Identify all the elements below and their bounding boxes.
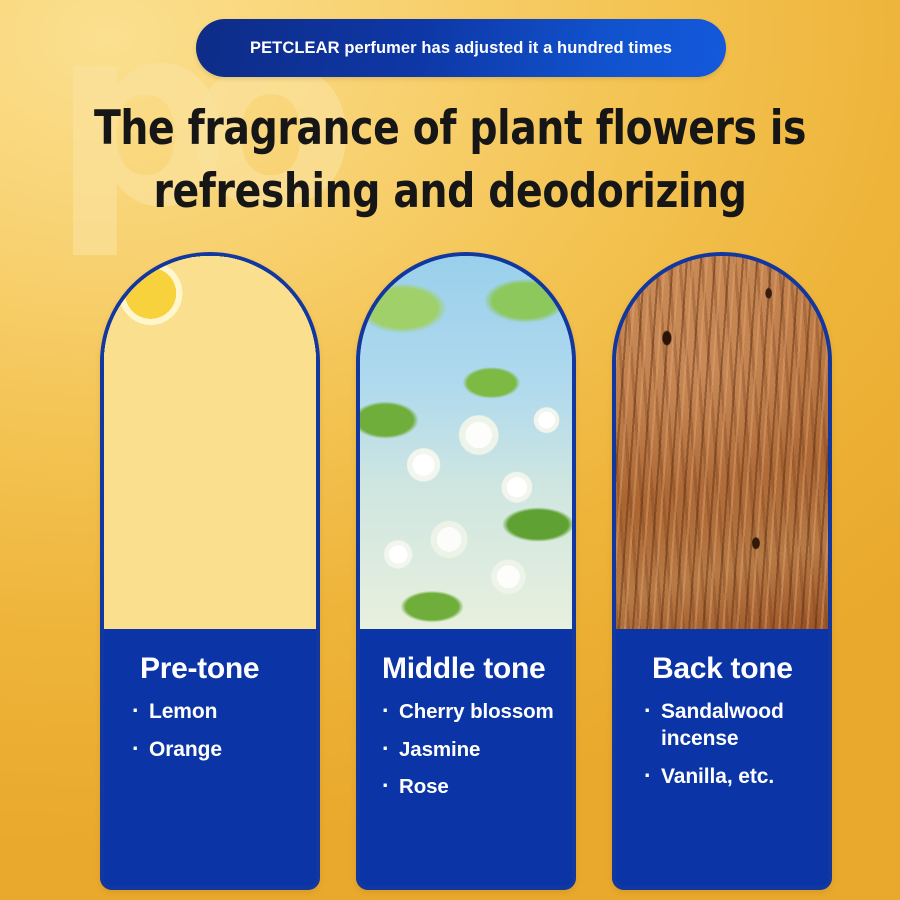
list-item: Rose <box>382 774 564 800</box>
card-note-list-back-tone: Sandalwood incense Vanilla, etc. <box>644 699 814 791</box>
card-body-pre-tone: Pre-tone Lemon Orange <box>104 629 316 886</box>
poster-root: p o PETCLEAR perfumer has adjusted it a … <box>0 0 900 900</box>
fragrance-card-middle-tone: Middle tone Cherry blossom Jasmine Rose <box>356 252 576 890</box>
card-title-pre-tone: Pre-tone <box>140 653 302 685</box>
list-item: Jasmine <box>382 737 564 763</box>
sandalwood-grain-image <box>616 256 828 629</box>
card-body-back-tone: Back tone Sandalwood incense Vanilla, et… <box>616 629 828 886</box>
tagline-banner: PETCLEAR perfumer has adjusted it a hund… <box>196 19 726 77</box>
card-note-list-pre-tone: Lemon Orange <box>132 699 302 764</box>
sandalwood-grain-photo <box>616 256 828 629</box>
lemon-slices-photo <box>104 256 316 629</box>
list-item: Orange <box>132 737 302 764</box>
page-title: The fragrance of plant flowers is refres… <box>32 98 869 223</box>
list-item: Vanilla, etc. <box>644 764 814 791</box>
card-title-middle-tone: Middle tone <box>382 653 564 685</box>
fragrance-card-pre-tone: Pre-tone Lemon Orange <box>100 252 320 890</box>
tagline-banner-text: PETCLEAR perfumer has adjusted it a hund… <box>250 39 672 58</box>
jasmine-blossom-image <box>360 256 572 629</box>
fragrance-card-back-tone: Back tone Sandalwood incense Vanilla, et… <box>612 252 832 890</box>
list-item: Sandalwood incense <box>644 699 814 753</box>
list-item: Lemon <box>132 699 302 726</box>
card-note-list-middle-tone: Cherry blossom Jasmine Rose <box>382 699 564 800</box>
jasmine-blossom-photo <box>360 256 572 629</box>
list-item: Cherry blossom <box>382 699 564 725</box>
card-body-middle-tone: Middle tone Cherry blossom Jasmine Rose <box>360 629 572 886</box>
page-title-line-2: refreshing and deodorizing <box>32 161 869 224</box>
page-title-line-1: The fragrance of plant flowers is <box>94 101 806 156</box>
card-title-back-tone: Back tone <box>652 653 814 685</box>
lemon-slices-image <box>104 256 316 629</box>
